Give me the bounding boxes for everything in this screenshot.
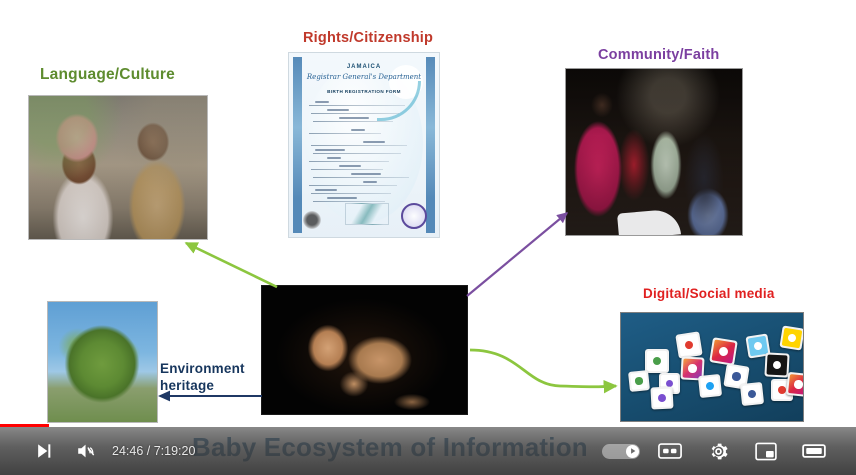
mute-button[interactable] (70, 435, 102, 467)
social-media-cube-face (630, 372, 648, 390)
autoplay-switch-knob (626, 445, 639, 458)
certificate-right-border (426, 57, 435, 233)
certificate-signature-box (345, 203, 389, 225)
certificate-rule-line (313, 177, 409, 178)
certificate-rule-line (309, 161, 389, 162)
video-player-screen: Language/Culture Rights/Citizenship Comm… (0, 0, 856, 475)
photo-community-faith (565, 68, 743, 236)
certificate-left-border (293, 57, 302, 233)
certificate-rule-line (309, 133, 381, 134)
arrow-to-community-faith (467, 213, 567, 296)
settings-button[interactable] (702, 435, 734, 467)
social-media-logo-glyph (753, 341, 762, 350)
certificate-form-title: BIRTH REGISTRATION FORM (289, 89, 439, 94)
social-media-logo-glyph (794, 380, 803, 389)
photo-language-culture-overlay (29, 96, 207, 239)
certificate-rule-line (313, 121, 393, 122)
social-media-cube (628, 370, 650, 392)
label-language-culture: Language/Culture (40, 66, 175, 84)
social-media-cube-face (711, 339, 735, 363)
certificate-rule-line (313, 153, 401, 154)
certificate-rule-line (311, 113, 399, 114)
social-media-cube (779, 325, 804, 350)
photo-newborn-baby-image (262, 286, 467, 414)
theater-mode-icon (802, 442, 826, 460)
certificate-handwriting (315, 149, 345, 151)
social-media-logo-glyph (653, 357, 662, 366)
social-media-logo-glyph (658, 394, 666, 402)
volume-muted-icon (75, 440, 97, 462)
label-digital-social-media: Digital/Social media (643, 286, 775, 301)
certificate-rule-line (313, 201, 385, 202)
certificate-rule-line (309, 105, 405, 106)
photo-language-culture (28, 95, 208, 240)
closed-captions-icon (658, 442, 682, 460)
social-media-logo-glyph (787, 333, 796, 342)
certificate-ink-stamp (303, 211, 321, 229)
captions-button[interactable] (654, 435, 686, 467)
certificate-country-name: JAMAICA (289, 64, 439, 70)
social-media-logo-glyph (718, 346, 729, 357)
social-media-cube (786, 372, 804, 397)
certificate-rule-line (309, 185, 397, 186)
certificate-handwriting (315, 101, 329, 103)
miniplayer-icon (755, 442, 777, 461)
certificate-handwriting (363, 181, 377, 183)
arrow-to-digital-social-media (470, 350, 616, 387)
theater-mode-button[interactable] (798, 435, 830, 467)
social-media-cube (740, 382, 764, 406)
social-media-logo-glyph (684, 340, 694, 350)
social-media-logo-glyph (748, 390, 757, 399)
social-media-cube (698, 374, 722, 398)
certificate-handwriting (351, 173, 381, 175)
social-media-cube-face (766, 354, 787, 375)
certificate-handwriting (327, 197, 357, 199)
photo-environment-tree-image (48, 302, 157, 422)
autoplay-switch-track (602, 444, 640, 459)
social-media-cube (764, 352, 789, 377)
social-media-cube-face (678, 334, 701, 357)
social-media-logo-glyph (778, 386, 786, 394)
next-video-button[interactable] (28, 435, 60, 467)
certificate-handwriting (327, 109, 349, 111)
certificate-rule-line (311, 145, 407, 146)
social-media-cube (645, 349, 669, 373)
photo-newborn-baby (261, 285, 468, 415)
certificate-handwriting (339, 165, 361, 167)
arrow-to-language-culture (186, 243, 277, 287)
certificate-rule-line (311, 169, 383, 170)
social-media-logo-glyph (635, 377, 643, 385)
next-track-icon (34, 441, 54, 461)
social-media-cube-face (788, 374, 804, 395)
photo-birth-certificate: JAMAICA Registrar General's Department B… (288, 52, 440, 238)
certificate-official-seal (401, 203, 427, 229)
certificate-handwriting (327, 157, 341, 159)
social-media-logo-glyph (706, 382, 715, 391)
photo-digital-social-media (620, 312, 804, 422)
label-community-faith: Community/Faith (598, 47, 719, 63)
play-triangle-icon (629, 447, 637, 455)
certificate-handwriting (315, 189, 337, 191)
photo-environment-tree (47, 301, 158, 423)
certificate-department-name: Registrar General's Department (289, 73, 439, 81)
certificate-handwriting (339, 117, 369, 119)
social-media-cube-face (647, 351, 667, 371)
social-media-cube-face (653, 389, 672, 408)
slide-canvas: Language/Culture Rights/Citizenship Comm… (0, 0, 856, 475)
social-media-cube-face (700, 376, 720, 396)
certificate-rule-line (311, 193, 391, 194)
time-display: 24:46 / 7:19:20 (112, 435, 195, 467)
social-media-logo-glyph (688, 364, 697, 373)
gear-icon (708, 441, 729, 462)
label-rights-citizenship: Rights/Citizenship (303, 30, 433, 46)
autoplay-toggle-button[interactable] (598, 435, 644, 467)
progress-bar-track[interactable] (0, 424, 856, 427)
social-media-cube (650, 386, 673, 409)
certificate-handwriting (363, 141, 385, 143)
progress-bar-played (0, 424, 49, 427)
social-media-logo-glyph (772, 360, 781, 369)
social-media-cube-face (742, 384, 762, 404)
social-media-cube (709, 337, 738, 366)
social-media-cube (675, 331, 702, 358)
social-media-cube-face (782, 328, 803, 349)
certificate-handwriting (351, 129, 365, 131)
social-media-logo-glyph (732, 372, 742, 382)
miniplayer-button[interactable] (750, 435, 782, 467)
player-control-bar: 24:46 / 7:19:20 (0, 427, 856, 475)
